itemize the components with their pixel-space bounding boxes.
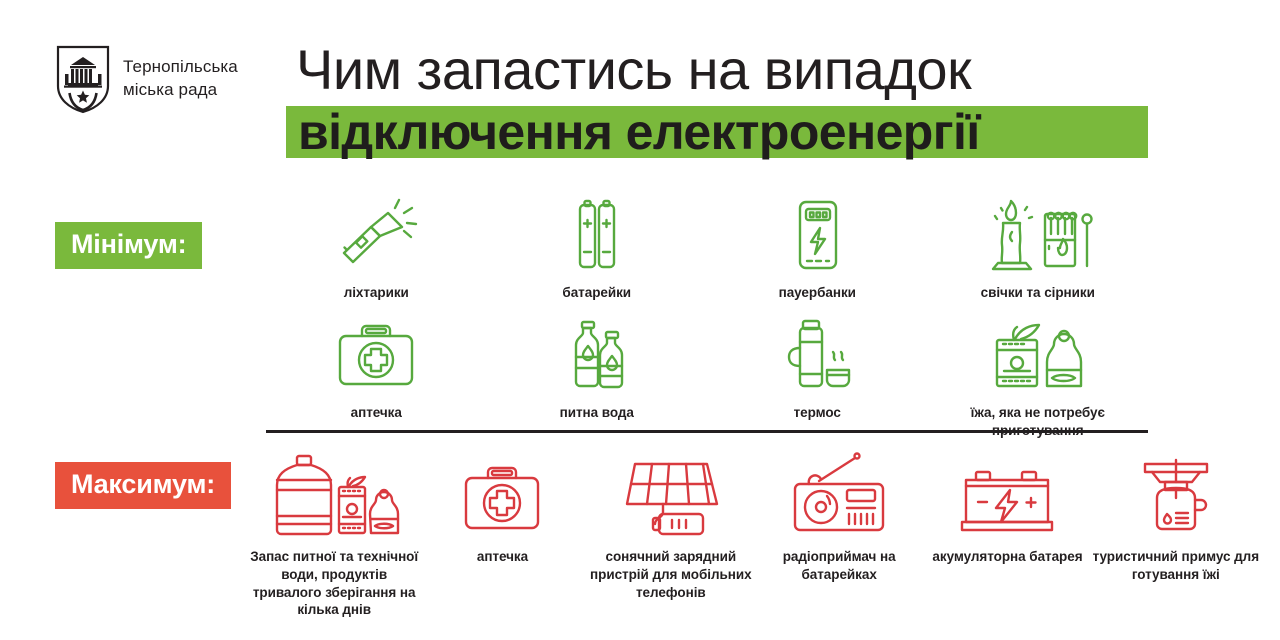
powerbank-icon (772, 196, 862, 274)
item-thermos: термос (707, 316, 928, 440)
item-label: сонячний зарядний пристрій для мобільних… (587, 548, 755, 601)
title-line-2: відключення електроенергії (286, 107, 980, 157)
minimum-row-1: ліхтарики батарейки (266, 196, 1148, 302)
item-flashlight: ліхтарики (266, 196, 487, 302)
item-label: Запас питної та технічної води, продукті… (250, 548, 418, 619)
item-label: їжа, яка не потребує приготування (928, 404, 1149, 440)
flashlight-icon (331, 196, 421, 274)
camping-stove-icon (1121, 452, 1231, 538)
item-car-battery: акумуляторна батарея (923, 452, 1091, 566)
item-label: питна вода (560, 404, 634, 422)
item-label: термос (794, 404, 841, 422)
title-line-1: Чим запастись на випадок (286, 40, 1148, 100)
item-drinking-water: питна вода (487, 316, 708, 440)
ternopil-city-shield-icon (55, 44, 111, 114)
car-battery-icon (952, 452, 1062, 538)
item-label: пауербанки (779, 284, 856, 302)
header: Тернопільська міська рада Чим запастись … (0, 0, 1280, 180)
item-batteries: батарейки (487, 196, 708, 302)
item-label: батарейки (562, 284, 631, 302)
item-candles-matches: свічки та сірники (928, 196, 1149, 302)
item-first-aid-kit-max: аптечка (418, 452, 586, 566)
water-bottles-icon (547, 316, 647, 394)
solar-charger-icon (611, 452, 731, 538)
item-water-and-food-supply: Запас питної та технічної води, продукті… (250, 452, 418, 619)
batteries-icon (552, 196, 642, 274)
item-label: аптечка (351, 404, 402, 422)
item-battery-radio: радіоприймач на батарейках (755, 452, 923, 584)
item-label: акумуляторна батарея (932, 548, 1082, 566)
section-badge-minimum: Мінімум: (55, 222, 202, 269)
minimum-row-2: аптечка питна вода (266, 316, 1148, 440)
canned-food-icon (973, 316, 1103, 394)
section-badge-maximum: Максимум: (55, 462, 231, 509)
item-label: аптечка (477, 548, 528, 566)
item-powerbank: пауербанки (707, 196, 928, 302)
thermos-icon (767, 316, 867, 394)
water-jug-and-canned-food-icon (259, 452, 409, 538)
brand-name: Тернопільська міська рада (123, 56, 238, 102)
item-label: свічки та сірники (981, 284, 1095, 302)
first-aid-kit-icon (452, 452, 552, 538)
brand-logo: Тернопільська міська рада (55, 44, 238, 114)
item-first-aid-kit: аптечка (266, 316, 487, 440)
item-ready-to-eat-food: їжа, яка не потребує приготування (928, 316, 1149, 440)
title-highlight-band: відключення електроенергії (286, 106, 1148, 158)
radio-receiver-icon (779, 452, 899, 538)
maximum-row-1: Запас питної та технічної води, продукті… (250, 452, 1260, 619)
first-aid-kit-icon (326, 316, 426, 394)
item-label: ліхтарики (344, 284, 409, 302)
page-title: Чим запастись на випадок відключення еле… (286, 40, 1148, 158)
item-label: туристичний примус для готування їжі (1092, 548, 1260, 584)
candle-and-matches-icon (973, 196, 1103, 274)
item-solar-charger: сонячний зарядний пристрій для мобільних… (587, 452, 755, 601)
item-label: радіоприймач на батарейках (755, 548, 923, 584)
item-camping-stove: туристичний примус для готування їжі (1092, 452, 1260, 584)
